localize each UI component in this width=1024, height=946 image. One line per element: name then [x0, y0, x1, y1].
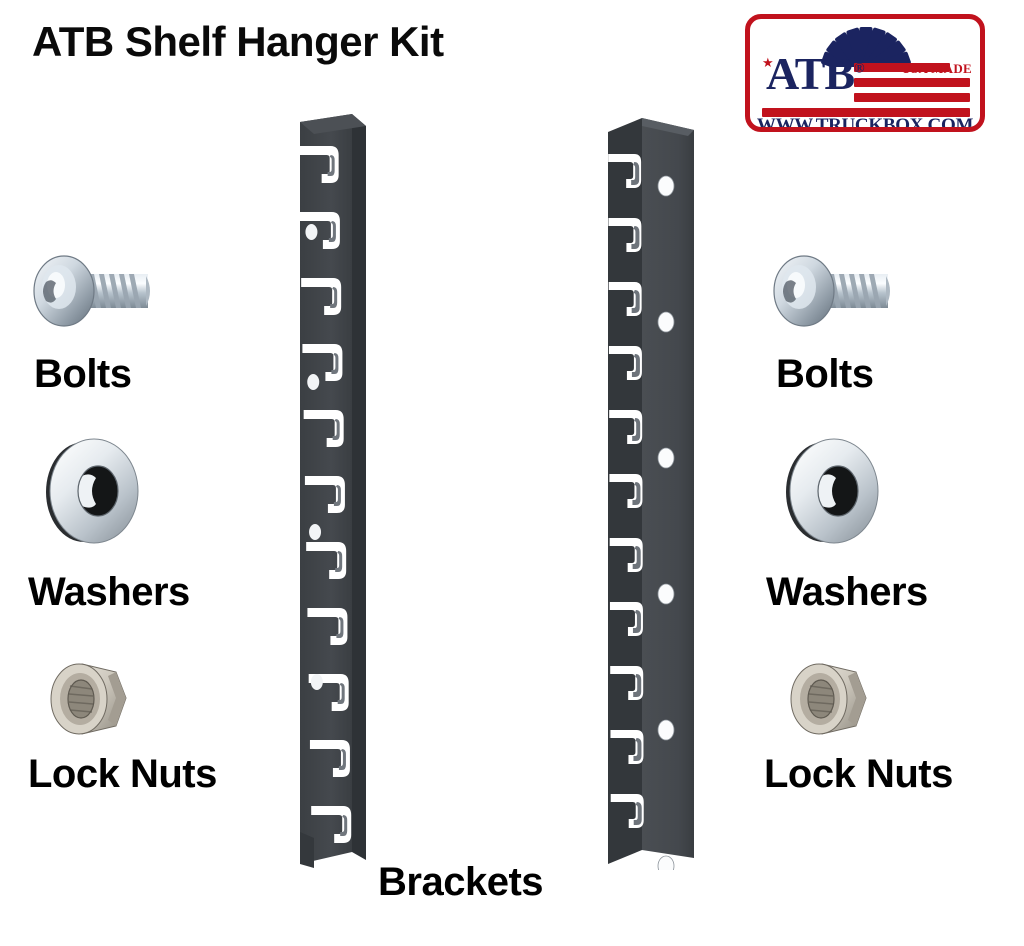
bracket-hole	[311, 674, 323, 690]
label-bolts-right: Bolts	[776, 352, 874, 397]
bolt-image-left	[28, 252, 168, 332]
bracket-right	[602, 114, 710, 870]
washer-image-left	[32, 436, 148, 546]
product-diagram: ATB Shelf Hanger Kit ★ ATB® USA MADE WWW…	[0, 0, 1024, 946]
bracket-hole	[307, 374, 319, 390]
bracket-hole	[658, 312, 674, 332]
bracket-hole	[658, 448, 674, 468]
lock-nut-image-right	[786, 660, 872, 738]
bracket-hole	[305, 224, 317, 240]
label-bolts-left: Bolts	[34, 352, 132, 397]
bracket-hole	[309, 524, 321, 540]
label-brackets: Brackets	[378, 860, 543, 905]
logo-brand-text: ATB	[766, 48, 854, 99]
washer-image-right	[772, 436, 888, 546]
label-lock-nuts-left: Lock Nuts	[28, 752, 217, 797]
page-title: ATB Shelf Hanger Kit	[32, 18, 444, 66]
label-washers-left: Washers	[28, 570, 190, 615]
bracket-hole	[658, 856, 674, 870]
bracket-hole	[658, 720, 674, 740]
logo-inner: ★ ATB® USA MADE WWW.TRUCKBOX.COM	[750, 19, 980, 127]
flag-stripe	[854, 78, 970, 87]
bracket-hole	[658, 176, 674, 196]
bolt-image-right	[768, 252, 908, 332]
bracket-hole	[658, 584, 674, 604]
label-lock-nuts-right: Lock Nuts	[764, 752, 953, 797]
bracket-left	[286, 112, 390, 870]
label-washers-right: Washers	[766, 570, 928, 615]
logo-tagline: USA MADE	[901, 61, 972, 77]
atb-logo: ★ ATB® USA MADE WWW.TRUCKBOX.COM	[745, 14, 985, 132]
lock-nut-image-left	[46, 660, 132, 738]
logo-url: WWW.TRUCKBOX.COM	[750, 115, 980, 127]
registered-mark: ®	[854, 62, 863, 77]
flag-stripe	[854, 93, 970, 102]
logo-brand: ATB®	[766, 51, 864, 97]
